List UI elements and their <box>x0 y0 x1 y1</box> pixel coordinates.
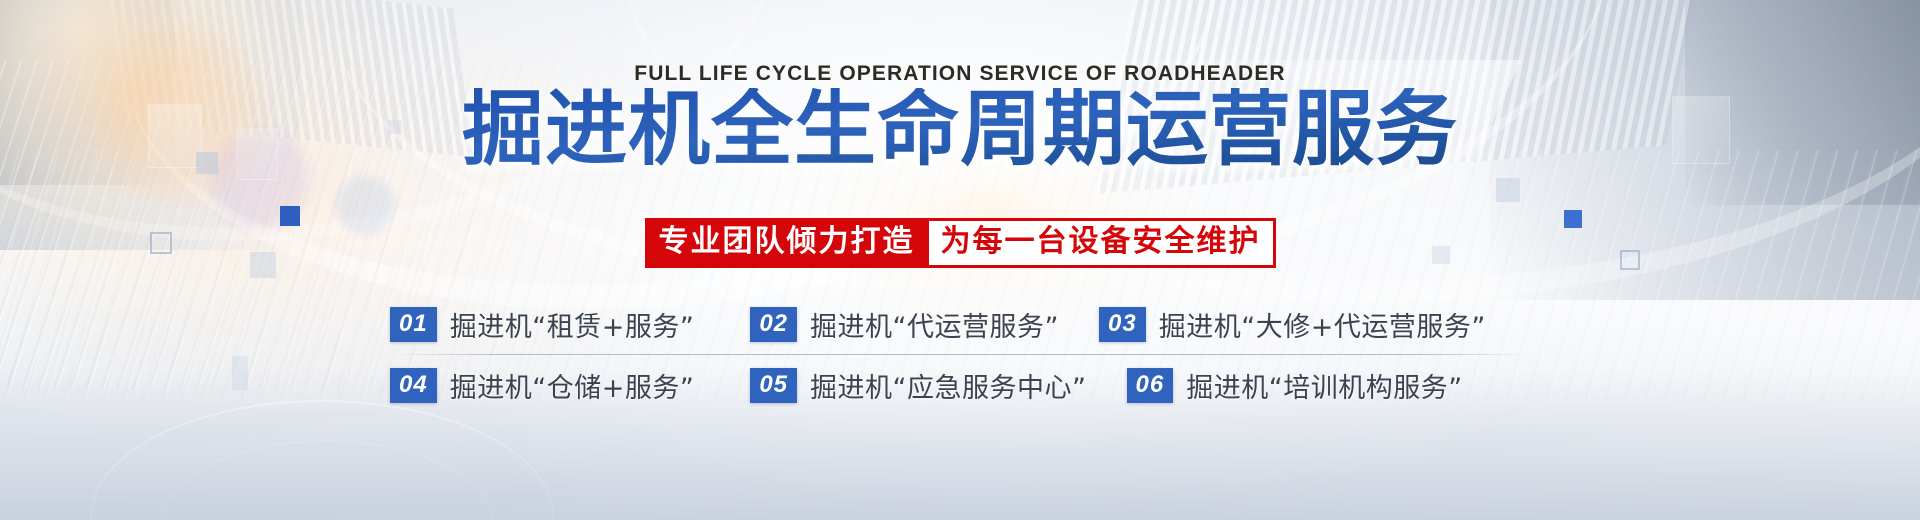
service-number-badge: 02 <box>750 307 797 342</box>
banner-content: FULL LIFE CYCLE OPERATION SERVICE OF ROA… <box>0 0 1920 520</box>
service-row-2: 04 掘进机“仓储+服务” 05 掘进机“应急服务中心” 06 掘进机“培训机构… <box>390 357 1530 413</box>
service-divider <box>390 354 1530 355</box>
subline-right-tag: 为每一台设备安全维护 <box>929 218 1276 268</box>
subline-left-tag: 专业团队倾力打造 <box>645 218 929 268</box>
service-item-06[interactable]: 06 掘进机“培训机构服务” <box>1127 366 1463 405</box>
service-label: 掘进机“应急服务中心” <box>810 366 1086 405</box>
service-number-badge: 06 <box>1127 368 1174 403</box>
service-number-badge: 01 <box>390 307 437 342</box>
service-item-01[interactable]: 01 掘进机“租赁+服务” <box>390 305 694 344</box>
service-item-03[interactable]: 03 掘进机“大修+代运营服务” <box>1099 305 1486 344</box>
service-label: 掘进机“租赁+服务” <box>450 305 695 344</box>
service-number-badge: 03 <box>1099 307 1146 342</box>
service-list: 01 掘进机“租赁+服务” 02 掘进机“代运营服务” 03 掘进机“大修+代运… <box>390 296 1530 413</box>
service-label: 掘进机“大修+代运营服务” <box>1159 305 1486 344</box>
service-label: 掘进机“代运营服务” <box>810 305 1059 344</box>
service-item-02[interactable]: 02 掘进机“代运营服务” <box>750 305 1059 344</box>
service-label: 掘进机“仓储+服务” <box>450 366 695 405</box>
banner-root: FULL LIFE CYCLE OPERATION SERVICE OF ROA… <box>0 0 1920 520</box>
banner-subline: 专业团队倾力打造 为每一台设备安全维护 <box>0 218 1920 268</box>
service-item-05[interactable]: 05 掘进机“应急服务中心” <box>750 366 1086 405</box>
banner-headline: 掘进机全生命周期运营服务 <box>0 88 1920 172</box>
service-row-1: 01 掘进机“租赁+服务” 02 掘进机“代运营服务” 03 掘进机“大修+代运… <box>390 296 1530 352</box>
service-number-badge: 04 <box>390 368 437 403</box>
service-number-badge: 05 <box>750 368 797 403</box>
service-item-04[interactable]: 04 掘进机“仓储+服务” <box>390 366 694 405</box>
service-label: 掘进机“培训机构服务” <box>1186 366 1462 405</box>
